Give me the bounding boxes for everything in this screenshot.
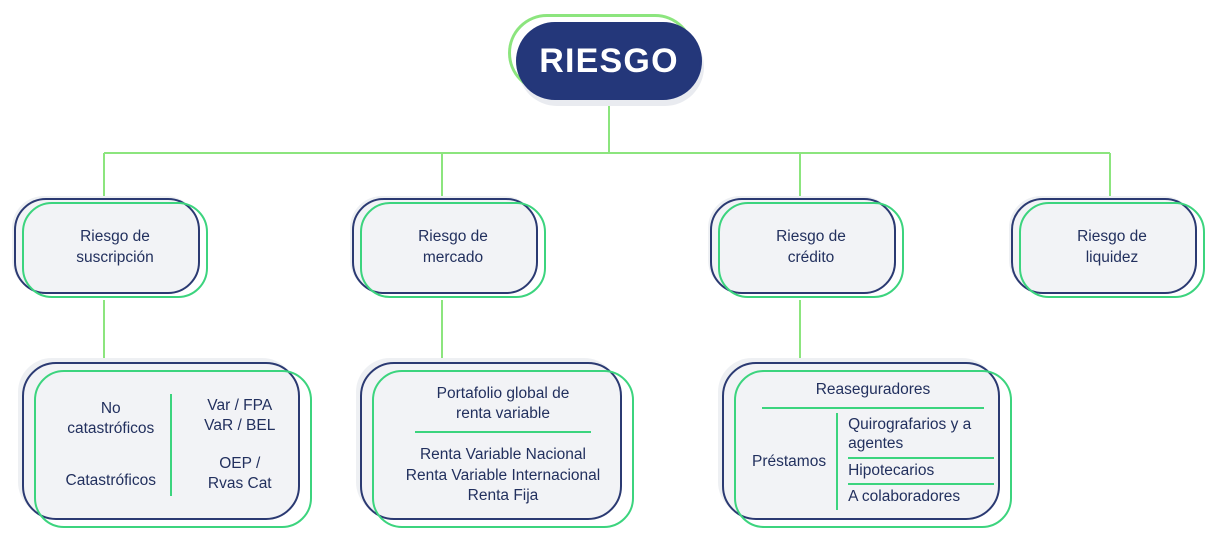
branch-node-label: Riesgo de suscripción — [76, 227, 154, 269]
detail-box-body: Reaseguradores Préstamos Quirografarios … — [734, 366, 1012, 524]
branch-node-body: Riesgo de crédito — [718, 200, 904, 296]
credito-group-label: Préstamos — [752, 453, 836, 471]
branch-node-body: Riesgo de suscripción — [22, 200, 208, 296]
credito-divider — [762, 407, 985, 409]
credito-item: Quirografarios y a agentes — [848, 413, 994, 457]
branch-node-label: Riesgo de liquidez — [1077, 227, 1147, 269]
branch-node-credito[interactable]: Riesgo de crédito — [718, 200, 904, 296]
suscripcion-grid: No catastróficos Catastróficos Var / FPA… — [52, 376, 294, 514]
detail-box-suscripcion[interactable]: No catastróficos Catastróficos Var / FPA… — [34, 366, 312, 524]
credito-header: Reaseguradores — [816, 380, 931, 400]
suscripcion-measure-2: OEP / Rvas Cat — [208, 454, 272, 494]
branch-node-suscripcion[interactable]: Riesgo de suscripción — [22, 200, 208, 296]
branch-node-label: Riesgo de mercado — [418, 227, 488, 269]
branch-node-liquidez[interactable]: Riesgo de liquidez — [1019, 200, 1205, 296]
root-node-riesgo[interactable]: RIESGO — [516, 22, 702, 100]
credito-item-list: Quirografarios y a agentes Hipotecarios … — [836, 413, 994, 511]
credito-content: Reaseguradores Préstamos Quirografarios … — [752, 380, 994, 511]
root-node-label: RIESGO — [539, 42, 678, 81]
suscripcion-category-1: No catastróficos — [67, 399, 154, 439]
root-node-body: RIESGO — [516, 22, 702, 100]
mercado-divider — [415, 431, 591, 433]
detail-box-body: No catastróficos Catastróficos Var / FPA… — [34, 366, 312, 524]
credito-prestamos-group: Préstamos Quirografarios y a agentes Hip… — [752, 413, 994, 511]
suscripcion-measures: Var / FPA VaR / BEL OEP / Rvas Cat — [170, 394, 294, 496]
branch-node-body: Riesgo de liquidez — [1019, 200, 1205, 296]
mercado-items: Renta Variable Nacional Renta Variable I… — [406, 445, 600, 505]
branch-node-label: Riesgo de crédito — [776, 227, 846, 269]
detail-box-credito[interactable]: Reaseguradores Préstamos Quirografarios … — [734, 366, 1012, 524]
mercado-content: Portafolio global de renta variable Rent… — [390, 384, 616, 506]
mercado-header: Portafolio global de renta variable — [437, 384, 570, 424]
risk-taxonomy-diagram: RIESGO Riesgo de suscripción Riesgo de m… — [0, 0, 1218, 557]
branch-node-body: Riesgo de mercado — [360, 200, 546, 296]
suscripcion-category-2: Catastróficos — [66, 471, 156, 491]
detail-box-mercado[interactable]: Portafolio global de renta variable Rent… — [372, 366, 634, 524]
detail-box-body: Portafolio global de renta variable Rent… — [372, 366, 634, 524]
branch-node-mercado[interactable]: Riesgo de mercado — [360, 200, 546, 296]
credito-item: A colaboradores — [848, 483, 994, 510]
suscripcion-measure-1: Var / FPA VaR / BEL — [204, 396, 275, 436]
suscripcion-categories: No catastróficos Catastróficos — [52, 399, 170, 491]
credito-item: Hipotecarios — [848, 457, 994, 484]
